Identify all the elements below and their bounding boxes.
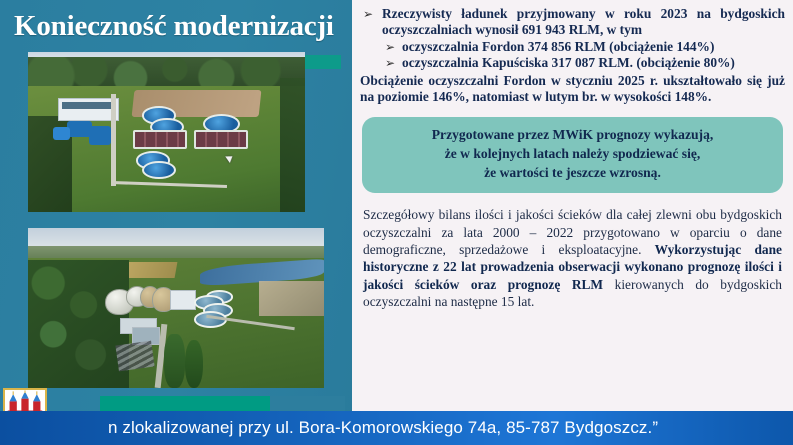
photo1-main-building: [58, 98, 118, 121]
content-panel: ➢ Rzeczywisty ładunek przyjmowany w roku…: [352, 0, 793, 445]
photo2-building-1: [170, 290, 196, 310]
video-caption-bar: n zlokalizowanej przy ul. Bora-Komorowsk…: [0, 411, 793, 445]
photo2-construction-area: [259, 281, 324, 316]
paragraph-load-2025: Obciążenie oczyszczalni Fordon w styczni…: [360, 73, 785, 106]
photo1-aeration-basin-1: [133, 130, 187, 148]
aerial-photo-kapusciska: [28, 228, 324, 388]
bullet-text-kapusciska: oczyszczalnia Kapuściska 317 087 RLM. (o…: [402, 55, 735, 70]
photo1-blue-tank-2: [89, 126, 111, 145]
photo1-clarifier-5: [142, 161, 176, 179]
photo2-forest: [28, 260, 129, 388]
callout-line-2: że w kolejnych latach należy spodziewać …: [374, 145, 771, 164]
photo1-blue-tank-3: [53, 127, 70, 140]
photo2-hedge-1: [164, 334, 185, 388]
bullet-item-main: ➢ Rzeczywisty ładunek przyjmowany w roku…: [360, 6, 785, 72]
photo1-right-woods: [280, 78, 305, 212]
bullet-text-main: Rzeczywisty ładunek przyjmowany w roku 2…: [382, 6, 785, 37]
callout-line-1: Przygotowane przez MWiK prognozy wykazuj…: [374, 126, 771, 145]
green-accent-strip: [305, 55, 341, 69]
photo1-road-vertical: [111, 94, 115, 187]
presentation-slide: Konieczność modernizacji: [0, 0, 793, 445]
arrow-bullet-icon: ➢: [385, 55, 395, 71]
arrow-bullet-icon: ➢: [363, 6, 373, 22]
photo1-treeline: [28, 57, 305, 89]
photo1-aeration-basin-2: [194, 130, 248, 148]
aerial-photo-fordon: [28, 52, 305, 212]
bullet-list: ➢ Rzeczywisty ładunek przyjmowany w roku…: [360, 6, 785, 72]
left-panel: Konieczność modernizacji: [0, 0, 352, 445]
photo1-blue-tank-1: [67, 121, 92, 137]
bullet-text-fordon: oczyszczalnia Fordon 374 856 RLM (obciąż…: [402, 39, 714, 54]
arrow-bullet-icon: ➢: [385, 39, 395, 55]
page-title: Konieczność modernizacji: [14, 8, 340, 46]
callout-line-3: że wartości te jeszcze wzrosną.: [374, 164, 771, 183]
photo2-hedge-2: [185, 340, 203, 388]
photo2-parking: [115, 341, 154, 371]
bullet-item-fordon: ➢ oczyszczalnia Fordon 374 856 RLM (obci…: [382, 39, 785, 55]
paragraph-balance: Szczegółowy bilans ilości i jakości ście…: [363, 206, 782, 310]
sub-bullet-list: ➢ oczyszczalnia Fordon 374 856 RLM (obci…: [382, 39, 785, 72]
bullet-item-kapusciska: ➢ oczyszczalnia Kapuściska 317 087 RLM. …: [382, 55, 785, 71]
caption-text: n zlokalizowanej przy ul. Bora-Komorowsk…: [108, 416, 788, 440]
callout-box: Przygotowane przez MWiK prognozy wykazuj…: [362, 117, 783, 193]
